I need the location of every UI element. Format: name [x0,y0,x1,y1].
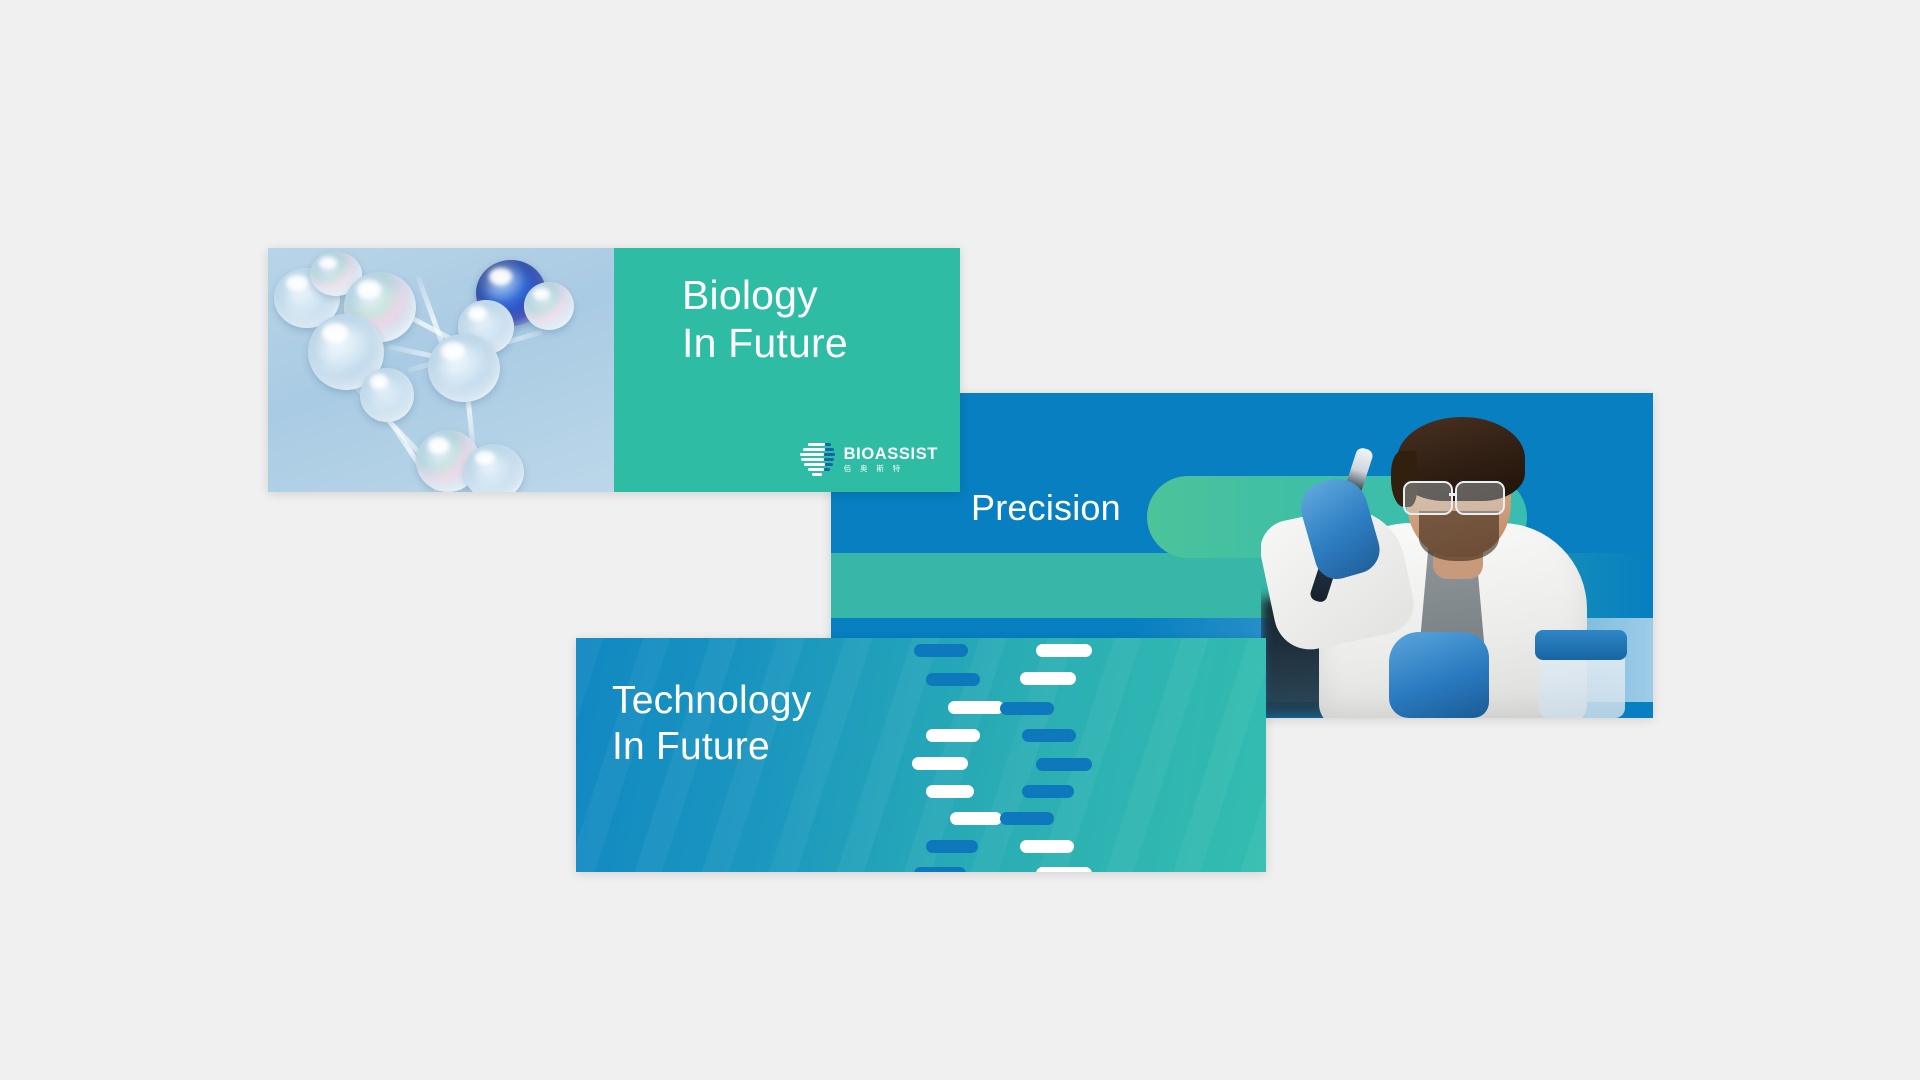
dna-band-blue [1036,758,1092,771]
dna-band-blue [1022,785,1074,798]
dna-band-white [1036,644,1092,657]
slide-collage-canvas: Biology In Future [0,0,1920,1080]
dna-band-blue [1000,702,1054,715]
dna-band-white [950,812,1002,825]
dna-ladder-graphic [908,644,1108,866]
card-biology-in-future[interactable]: Biology In Future [268,248,960,492]
gloved-hand-lower [1389,632,1489,718]
molecule-photo [268,248,614,492]
dna-band-white [1020,672,1076,685]
dna-band-white [1036,867,1092,872]
goggles-bridge [1449,493,1457,496]
technology-title: Technology In Future [612,678,811,769]
scientist-photo [1261,393,1653,718]
dna-band-white [948,701,1004,714]
biology-text-panel: Biology In Future [614,248,960,492]
dna-band-blue [1000,812,1054,825]
reagent-bottle-cap [1535,630,1627,660]
molecule-atom [428,334,500,402]
dna-band-white [912,757,968,770]
card-technology-in-future[interactable]: Technology In Future [576,638,1266,872]
bioassist-logo-word: BIOASSIST [844,446,938,463]
biology-title: Biology In Future [682,271,848,368]
dna-band-white [926,729,980,742]
dna-band-blue [914,867,966,872]
dna-band-white [1020,840,1074,853]
bioassist-logo-mark-icon [800,442,835,476]
bioassist-logo[interactable]: BIOASSIST 佰 奥 斯 特 [800,442,938,476]
dna-band-blue [1022,729,1076,742]
safety-goggles-left-lens [1403,481,1453,515]
precision-title: Precision [971,487,1121,529]
bioassist-logo-subtitle: 佰 奥 斯 特 [844,465,938,473]
dna-band-blue [926,673,980,686]
dna-band-blue [926,840,978,853]
molecule-atom [464,444,524,492]
molecule-atom [360,368,414,422]
dna-band-white [926,785,974,798]
beard [1419,511,1499,561]
molecule-atom [524,282,574,330]
safety-goggles-right-lens [1455,481,1505,515]
dna-band-blue [914,644,968,657]
